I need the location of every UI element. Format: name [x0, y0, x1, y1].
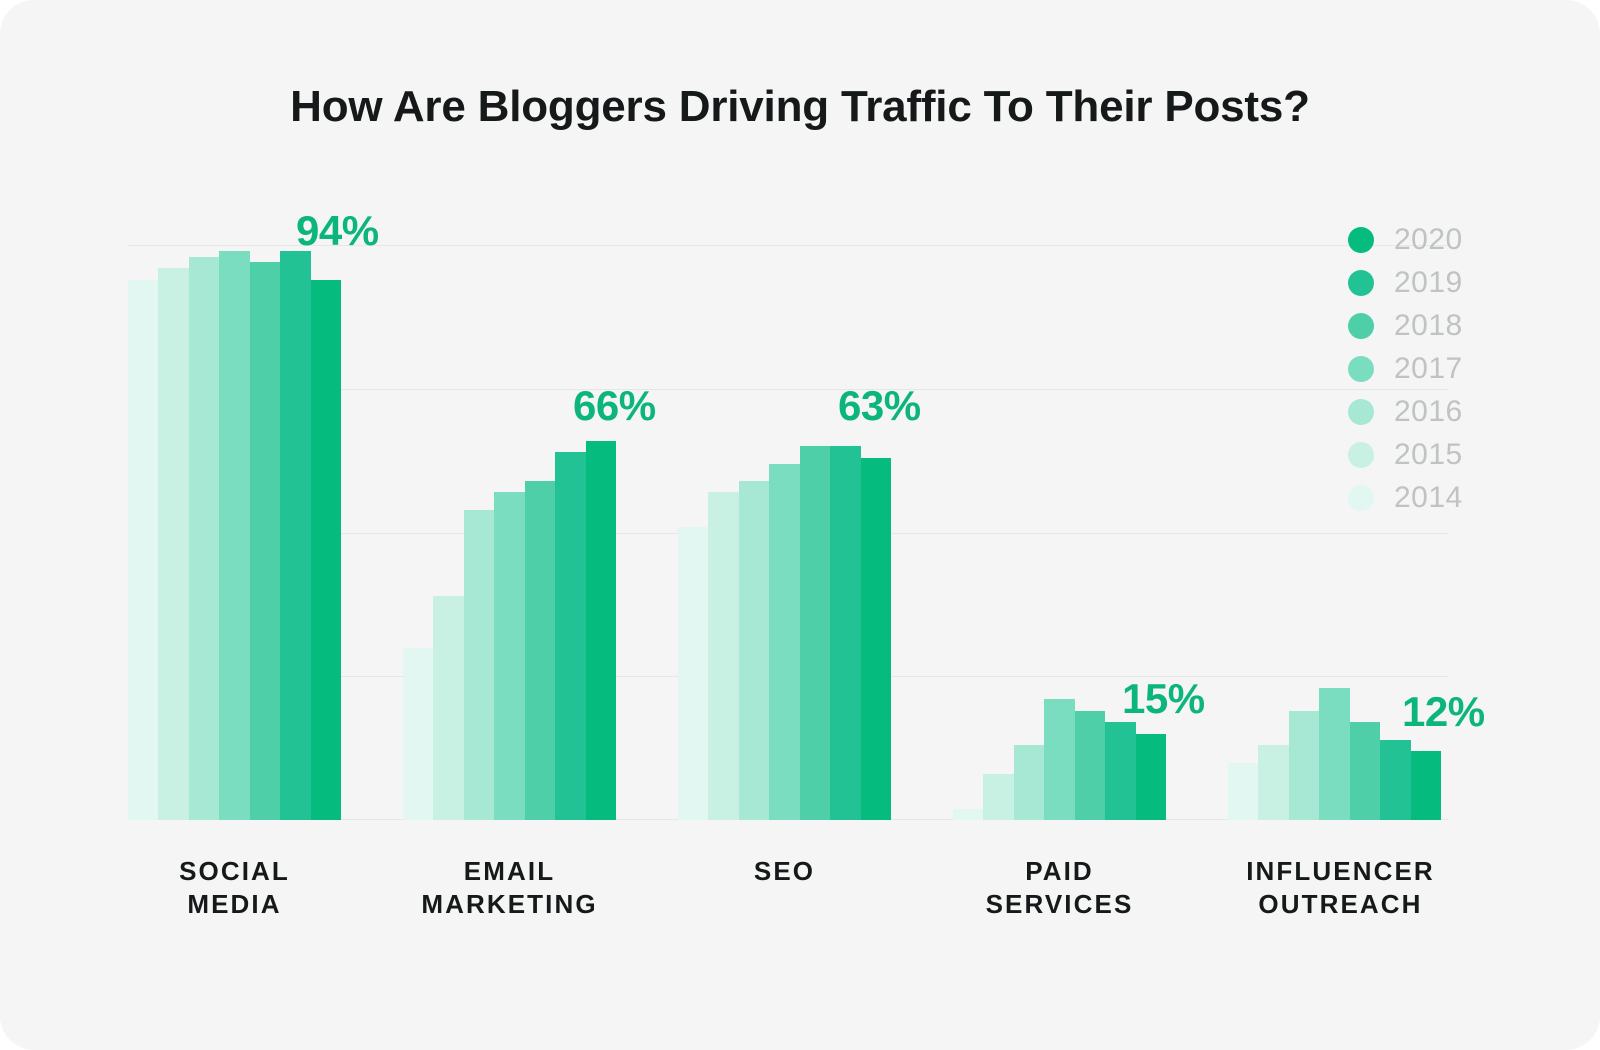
bar-2014 — [1228, 763, 1258, 821]
category-label-seo: SEO — [678, 855, 891, 888]
page-title: How Are Bloggers Driving Traffic To Thei… — [0, 82, 1600, 132]
legend-label: 2018 — [1394, 309, 1463, 343]
legend-color-swatch-icon — [1348, 399, 1374, 425]
legend-item-2020[interactable]: 2020 — [1348, 218, 1528, 261]
bar-2016 — [739, 481, 769, 820]
legend-label: 2017 — [1394, 352, 1463, 386]
category-label-line1: SEO — [678, 855, 891, 888]
bars-seo — [678, 245, 891, 820]
bar-2017 — [1044, 699, 1074, 820]
value-label-influencer-outreach: 12% — [1402, 688, 1485, 736]
bar-2017 — [1319, 688, 1349, 820]
bar-2014 — [403, 648, 433, 821]
legend-color-swatch-icon — [1348, 442, 1374, 468]
category-label-line1: PAID — [953, 855, 1166, 888]
bar-2018 — [250, 262, 280, 820]
plot-area — [128, 245, 1448, 820]
bar-2018 — [1350, 722, 1380, 820]
bar-2015 — [433, 596, 463, 820]
legend-color-swatch-icon — [1348, 270, 1374, 296]
legend-label: 2020 — [1394, 223, 1463, 257]
bar-2019 — [1380, 740, 1410, 821]
bar-2019 — [1105, 722, 1135, 820]
bar-2019 — [555, 452, 585, 820]
legend-label: 2019 — [1394, 266, 1463, 300]
value-label-social-media: 94% — [296, 207, 379, 255]
value-label-email-marketing: 66% — [573, 382, 656, 430]
category-label-line2: MARKETING — [403, 888, 616, 921]
legend-item-2016[interactable]: 2016 — [1348, 390, 1528, 433]
bar-2015 — [708, 492, 738, 820]
bar-2020 — [1411, 751, 1441, 820]
value-label-seo: 63% — [838, 382, 921, 430]
bar-2015 — [158, 268, 188, 820]
legend-item-2015[interactable]: 2015 — [1348, 433, 1528, 476]
legend-color-swatch-icon — [1348, 227, 1374, 253]
bar-2015 — [1258, 745, 1288, 820]
category-label-line2: MEDIA — [128, 888, 341, 921]
legend-label: 2015 — [1394, 438, 1463, 472]
bar-2016 — [1014, 745, 1044, 820]
bar-2017 — [494, 492, 524, 820]
bar-2014 — [128, 280, 158, 821]
chart-card: How Are Bloggers Driving Traffic To Thei… — [0, 0, 1600, 1050]
bar-2014 — [953, 809, 983, 821]
legend-color-swatch-icon — [1348, 356, 1374, 382]
legend: 2020 2019 2018 2017 2016 2015 2014 — [1348, 218, 1528, 519]
bar-2020 — [311, 280, 341, 821]
bar-2019 — [830, 446, 860, 820]
bar-group-email-marketing — [403, 245, 616, 820]
category-label-line2: SERVICES — [953, 888, 1166, 921]
category-label-line1: INFLUENCER — [1203, 855, 1478, 888]
bar-2015 — [983, 774, 1013, 820]
bar-2018 — [525, 481, 555, 820]
category-label-social-media: SOCIAL MEDIA — [128, 855, 341, 921]
bar-2017 — [219, 251, 249, 820]
legend-item-2017[interactable]: 2017 — [1348, 347, 1528, 390]
legend-label: 2016 — [1394, 395, 1463, 429]
category-label-paid-services: PAID SERVICES — [953, 855, 1166, 921]
category-label-email-marketing: EMAIL MARKETING — [403, 855, 616, 921]
bar-2020 — [861, 458, 891, 820]
category-label-line1: EMAIL — [403, 855, 616, 888]
bars-paid-services — [953, 245, 1166, 820]
bar-2020 — [586, 441, 616, 821]
legend-color-swatch-icon — [1348, 313, 1374, 339]
bars-social-media — [128, 245, 341, 820]
bar-group-social-media — [128, 245, 341, 820]
legend-item-2019[interactable]: 2019 — [1348, 261, 1528, 304]
value-label-paid-services: 15% — [1122, 675, 1205, 723]
bar-2017 — [769, 464, 799, 821]
bar-group-paid-services — [953, 245, 1166, 820]
legend-item-2018[interactable]: 2018 — [1348, 304, 1528, 347]
bar-group-seo — [678, 245, 891, 820]
category-label-line2: OUTREACH — [1203, 888, 1478, 921]
bar-2018 — [800, 446, 830, 820]
legend-color-swatch-icon — [1348, 485, 1374, 511]
category-label-line1: SOCIAL — [128, 855, 341, 888]
bar-2016 — [1289, 711, 1319, 820]
legend-label: 2014 — [1394, 481, 1463, 515]
bars-email-marketing — [403, 245, 616, 820]
bar-2016 — [464, 510, 494, 821]
bar-2014 — [678, 527, 708, 820]
category-label-influencer-outreach: INFLUENCER OUTREACH — [1203, 855, 1478, 921]
legend-item-2014[interactable]: 2014 — [1348, 476, 1528, 519]
bar-2016 — [189, 257, 219, 821]
bar-2018 — [1075, 711, 1105, 820]
bar-2020 — [1136, 734, 1166, 820]
bar-2019 — [280, 251, 310, 820]
